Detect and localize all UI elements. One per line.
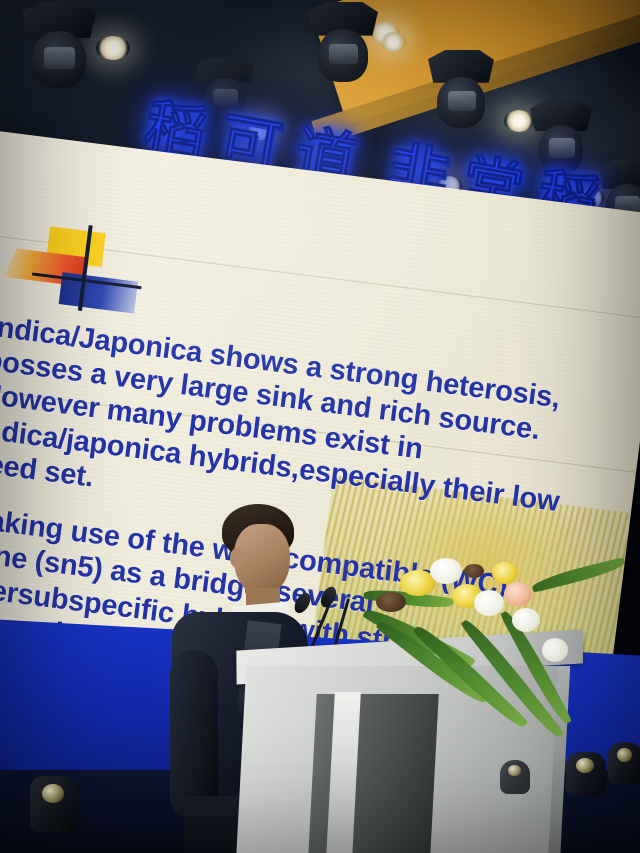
floor-par-light-icon — [566, 752, 606, 796]
floor-par-light-icon — [30, 776, 78, 832]
photo-scene: 稻 可 道 非 常 稻 Indica/Japonica shows a stro… — [0, 0, 640, 853]
yellow-flower — [492, 562, 518, 584]
downlight-icon — [96, 36, 130, 60]
deck-logo — [1, 221, 132, 312]
dried-foliage — [376, 592, 406, 612]
palm-frond — [530, 557, 626, 593]
white-flower — [542, 638, 568, 662]
moving-head-light-icon — [428, 50, 494, 128]
moving-head-light-icon — [308, 2, 378, 82]
speaker-arm — [170, 650, 218, 820]
moving-head-light-icon — [22, 2, 96, 88]
floor-par-light-icon — [608, 742, 640, 784]
flower-arrangement — [356, 556, 626, 706]
white-flower — [512, 608, 540, 632]
floor-par-light-icon — [500, 760, 530, 794]
speaker-ear — [230, 548, 244, 568]
dried-foliage — [464, 564, 484, 578]
white-flower — [430, 558, 462, 584]
white-flower — [474, 590, 504, 616]
downlight-icon — [380, 32, 406, 52]
peach-flower — [504, 582, 532, 606]
